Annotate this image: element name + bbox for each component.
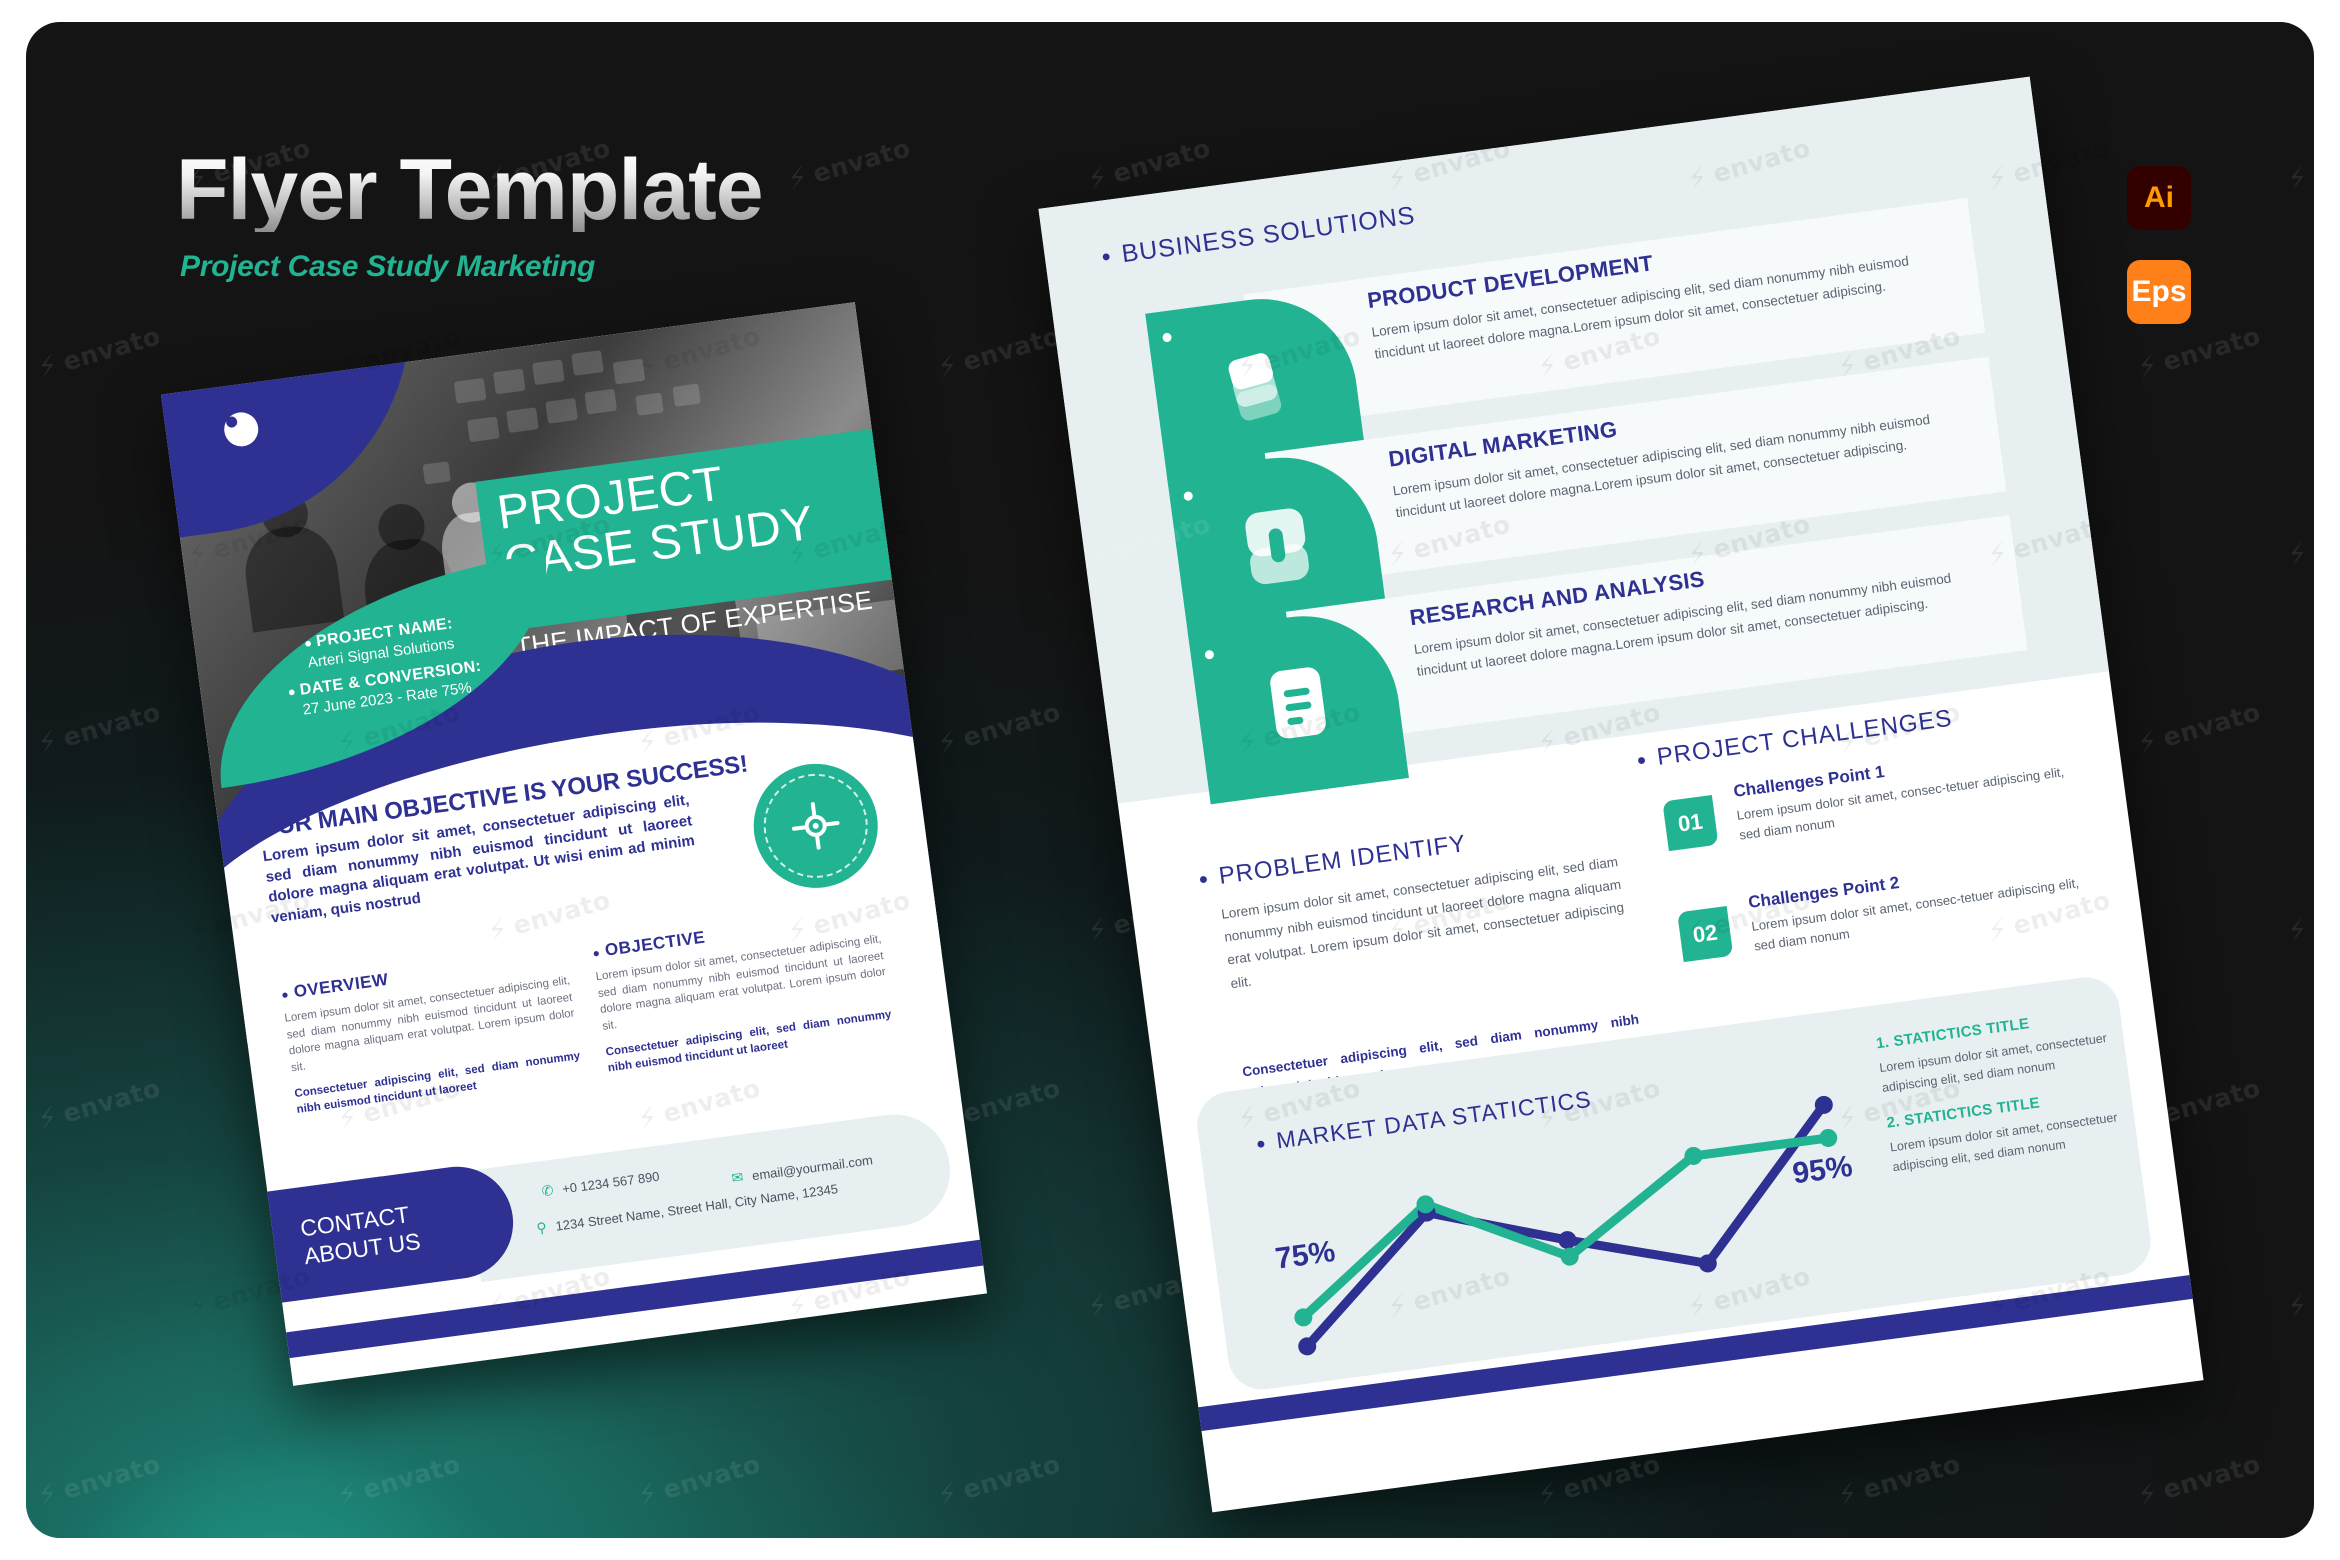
bullet-icon: ● (287, 684, 297, 700)
phone-icon: ✆ (541, 1182, 555, 1199)
contact-email: ✉email@yourmail.com (731, 1151, 874, 1187)
page-subtitle: Project Case Study Marketing (180, 250, 763, 284)
contact-about-us-tab: CONTACT ABOUT US (257, 1160, 520, 1304)
challenge-number: 01 (1662, 795, 1718, 851)
preview-stage: Flyer Template Project Case Study Market… (26, 22, 2314, 1538)
page-title: Flyer Template (176, 150, 763, 232)
bullet-icon: ● (1100, 248, 1113, 266)
bullet-icon: ● (1255, 1135, 1268, 1153)
challenge-number: 02 (1677, 906, 1733, 962)
challenge-item: 02 Challenges Point 2 Lorem ipsum dolor … (1676, 847, 2092, 903)
bullet-icon: ● (280, 987, 290, 1002)
contact-about-us-label: CONTACT ABOUT US (261, 1201, 422, 1276)
location-pin-icon: ⚲ (535, 1219, 547, 1236)
format-badge-eps: Eps (2127, 260, 2191, 324)
bullet-icon: ● (1197, 870, 1210, 888)
format-badge-ai: Ai (2127, 166, 2191, 230)
page-frame: Flyer Template Project Case Study Market… (0, 0, 2340, 1560)
megaphone-icon (1173, 493, 1382, 597)
flyer-page-back[interactable]: ●BUSINESS SOLUTIONS PRODUCT DEVELOPMENT (1038, 77, 2203, 1513)
bullet-icon: ● (592, 945, 602, 960)
bullet-icon: ● (303, 635, 313, 651)
header-block: Flyer Template Project Case Study Market… (176, 150, 763, 284)
document-icon (1194, 652, 1403, 756)
mail-icon: ✉ (731, 1169, 745, 1186)
layers-icon (1152, 335, 1360, 435)
bullet-icon: ● (1636, 751, 1649, 769)
contact-phone: ✆+0 1234 567 890 (541, 1168, 661, 1201)
flyer-page-front[interactable]: PROJECT CASE STUDY THE IMPACT OF EXPERTI… (161, 302, 987, 1386)
